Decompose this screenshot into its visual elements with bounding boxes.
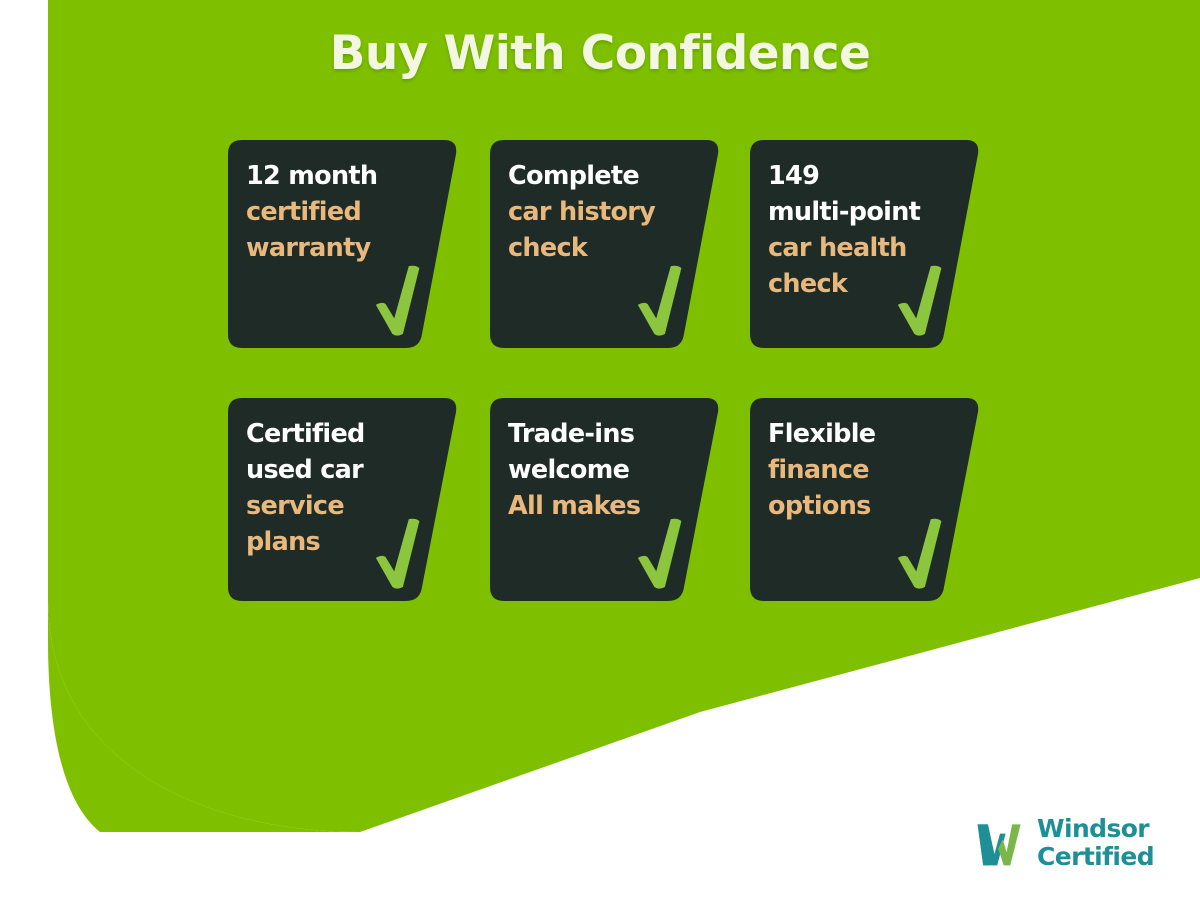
card-line: warranty: [246, 230, 432, 266]
card-line: multi-point: [768, 194, 954, 230]
feature-card-flexible-finance[interactable]: Flexiblefinanceoptions: [750, 398, 980, 601]
feature-card-trade-ins[interactable]: Trade-inswelcomeAll makes: [490, 398, 720, 601]
feature-card-car-history-check[interactable]: Completecar historycheck: [490, 140, 720, 348]
feature-card-certified-warranty[interactable]: 12 monthcertifiedwarranty: [228, 140, 458, 348]
poster-canvas: Buy With Confidence 12 monthcertifiedwar…: [0, 0, 1200, 900]
logo-wordmark: Windsor Certified: [1037, 815, 1154, 871]
card-line: check: [508, 230, 694, 266]
card-line: Complete: [508, 158, 694, 194]
check-icon: [634, 262, 692, 340]
card-line: 149: [768, 158, 954, 194]
card-line: finance: [768, 452, 954, 488]
card-line: Trade-ins: [508, 416, 694, 452]
card-line: Flexible: [768, 416, 954, 452]
card-line: 12 month: [246, 158, 432, 194]
logo-line-certified: Certified: [1037, 843, 1154, 871]
feature-card-service-plans[interactable]: Certifiedused carserviceplans: [228, 398, 458, 601]
feature-card-car-health-check[interactable]: 149multi-pointcar healthcheck: [750, 140, 980, 348]
card-line: certified: [246, 194, 432, 230]
card-text-block: Flexiblefinanceoptions: [768, 416, 954, 524]
card-line: car history: [508, 194, 694, 230]
check-icon: [372, 262, 430, 340]
logo-line-windsor: Windsor: [1037, 815, 1154, 843]
check-icon: [372, 515, 430, 593]
card-line: welcome: [508, 452, 694, 488]
check-icon: [894, 262, 952, 340]
card-line: used car: [246, 452, 432, 488]
card-text-block: Trade-inswelcomeAll makes: [508, 416, 694, 524]
card-text-block: 12 monthcertifiedwarranty: [246, 158, 432, 266]
windsor-w-icon: [972, 815, 1028, 871]
card-line: Certified: [246, 416, 432, 452]
card-line: car health: [768, 230, 954, 266]
page-title: Buy With Confidence: [0, 26, 1200, 81]
check-icon: [634, 515, 692, 593]
windsor-certified-logo: Windsor Certified: [972, 808, 1162, 878]
check-icon: [894, 515, 952, 593]
card-text-block: Completecar historycheck: [508, 158, 694, 266]
